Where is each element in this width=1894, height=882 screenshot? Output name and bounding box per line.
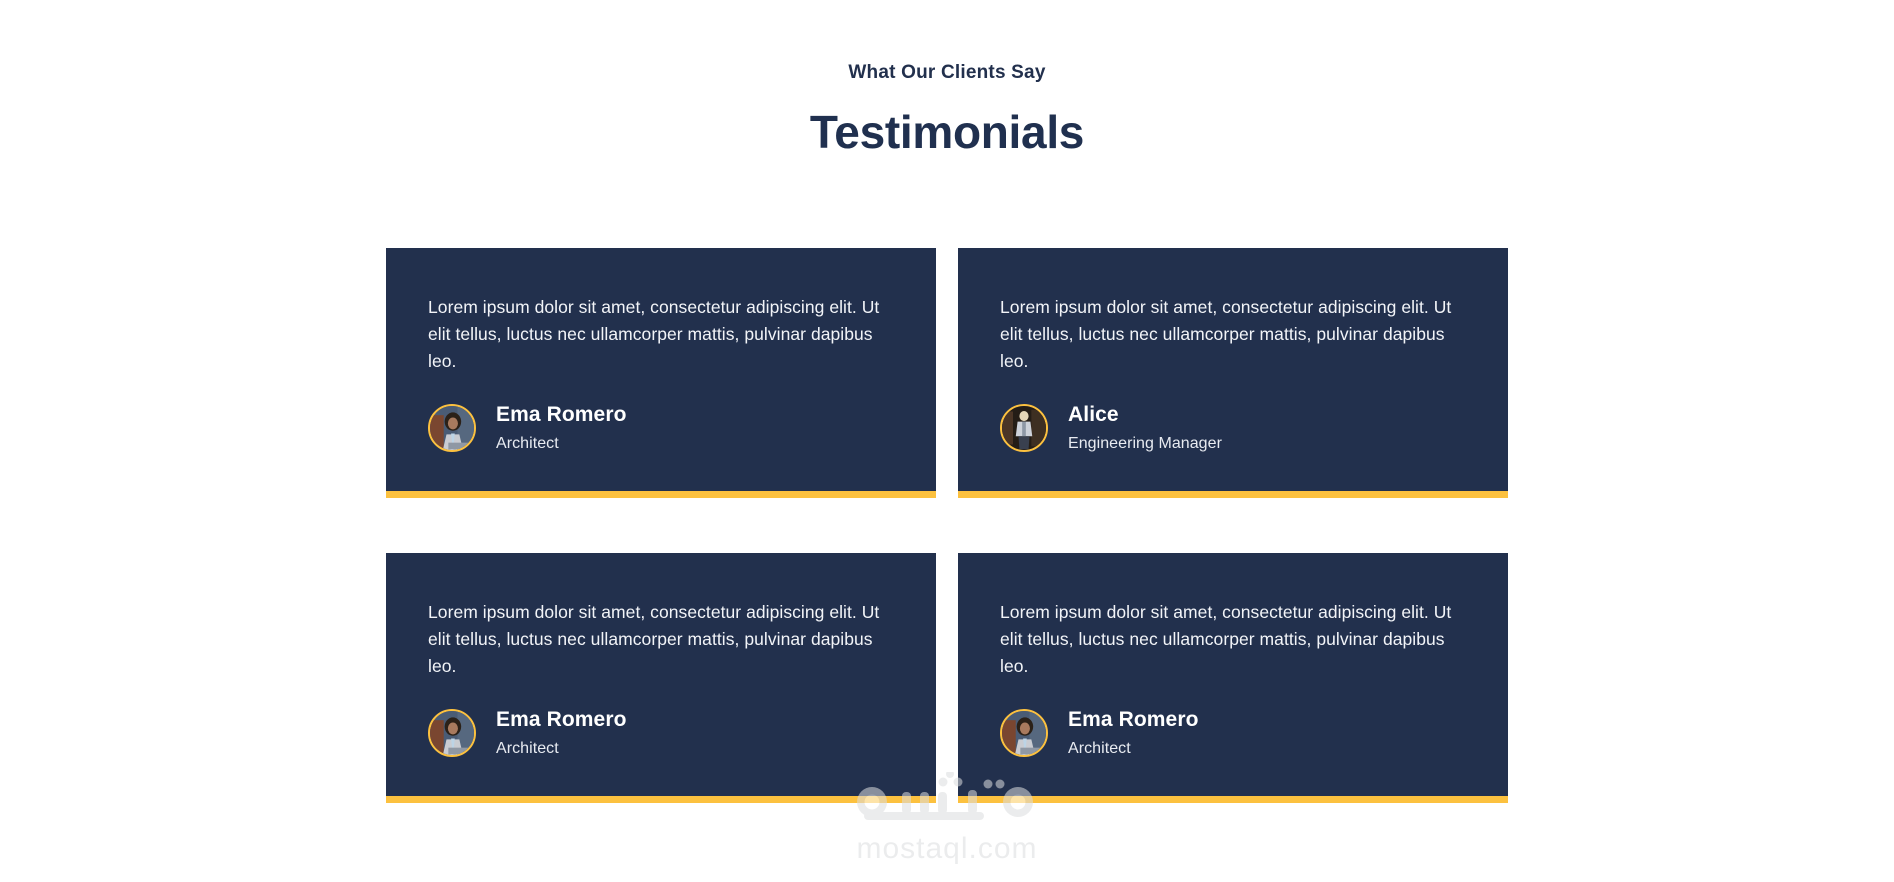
testimonials-grid: Lorem ipsum dolor sit amet, consectetur … [386, 248, 1508, 803]
testimonial-quote: Lorem ipsum dolor sit amet, consectetur … [1000, 599, 1466, 680]
testimonial-author: Ema Romero Architect [428, 403, 894, 453]
author-details: Ema Romero Architect [1068, 708, 1199, 758]
author-name: Ema Romero [1068, 708, 1199, 732]
testimonial-card[interactable]: Lorem ipsum dolor sit amet, consectetur … [386, 553, 936, 803]
avatar [428, 709, 476, 757]
testimonial-card[interactable]: Lorem ipsum dolor sit amet, consectetur … [958, 553, 1508, 803]
avatar [1000, 404, 1048, 452]
author-role: Architect [496, 739, 627, 758]
testimonial-quote: Lorem ipsum dolor sit amet, consectetur … [428, 599, 894, 680]
testimonial-author: Alice Engineering Manager [1000, 403, 1466, 453]
page-title: Testimonials [0, 105, 1894, 160]
author-name: Ema Romero [496, 403, 627, 427]
author-name: Alice [1068, 403, 1222, 427]
testimonial-quote: Lorem ipsum dolor sit amet, consectetur … [1000, 294, 1466, 375]
watermark-text: mostaql.com [0, 832, 1894, 866]
author-name: Ema Romero [496, 708, 627, 732]
author-details: Ema Romero Architect [496, 708, 627, 758]
author-details: Ema Romero Architect [496, 403, 627, 453]
section-header: What Our Clients Say Testimonials [0, 62, 1894, 160]
testimonial-author: Ema Romero Architect [1000, 708, 1466, 758]
author-role: Engineering Manager [1068, 434, 1222, 453]
testimonials-page: What Our Clients Say Testimonials Lorem … [0, 0, 1894, 882]
testimonial-card[interactable]: Lorem ipsum dolor sit amet, consectetur … [958, 248, 1508, 498]
testimonial-author: Ema Romero Architect [428, 708, 894, 758]
avatar [1000, 709, 1048, 757]
author-role: Architect [1068, 739, 1199, 758]
author-role: Architect [496, 434, 627, 453]
author-details: Alice Engineering Manager [1068, 403, 1222, 453]
avatar [428, 404, 476, 452]
section-eyebrow: What Our Clients Say [0, 62, 1894, 85]
testimonial-card[interactable]: Lorem ipsum dolor sit amet, consectetur … [386, 248, 936, 498]
testimonial-quote: Lorem ipsum dolor sit amet, consectetur … [428, 294, 894, 375]
